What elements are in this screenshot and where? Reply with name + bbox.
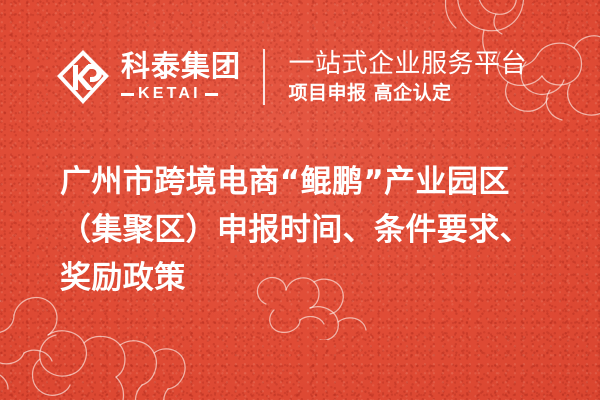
page-title: 广州市跨境电商“鲲鹏”产业园区 （集聚区）申报时间、条件要求、 奖励政策 (60, 158, 560, 302)
tagline-secondary: 项目申报 高企认定 (289, 83, 528, 103)
brand-tagline: 一站式企业服务平台 项目申报 高企认定 (289, 51, 528, 103)
logo-rule-right (205, 93, 218, 96)
headline-line-3: 奖励政策 (60, 254, 560, 302)
header-divider (263, 49, 265, 105)
promotional-banner: 科泰集团 KETAI 一站式企业服务平台 项目申报 高企认定 广州市跨境电商“鲲… (0, 0, 600, 400)
brand-name-en: KETAI (138, 86, 201, 102)
banner-header: 科泰集团 KETAI 一站式企业服务平台 项目申报 高企认定 (56, 44, 570, 110)
brand-name-cn: 科泰集团 (121, 52, 241, 81)
ketai-diamond-kp-logo-icon (56, 49, 110, 105)
brand-wordmark: 科泰集团 KETAI (121, 52, 241, 102)
tagline-primary: 一站式企业服务平台 (289, 51, 528, 79)
headline-line-2: （集聚区）申报时间、条件要求、 (60, 206, 560, 254)
brand-name-en-row: KETAI (121, 86, 241, 102)
brand-logo: 科泰集团 KETAI (56, 49, 241, 105)
logo-rule-left (121, 93, 134, 96)
headline-line-1: 广州市跨境电商“鲲鹏”产业园区 (60, 158, 560, 206)
